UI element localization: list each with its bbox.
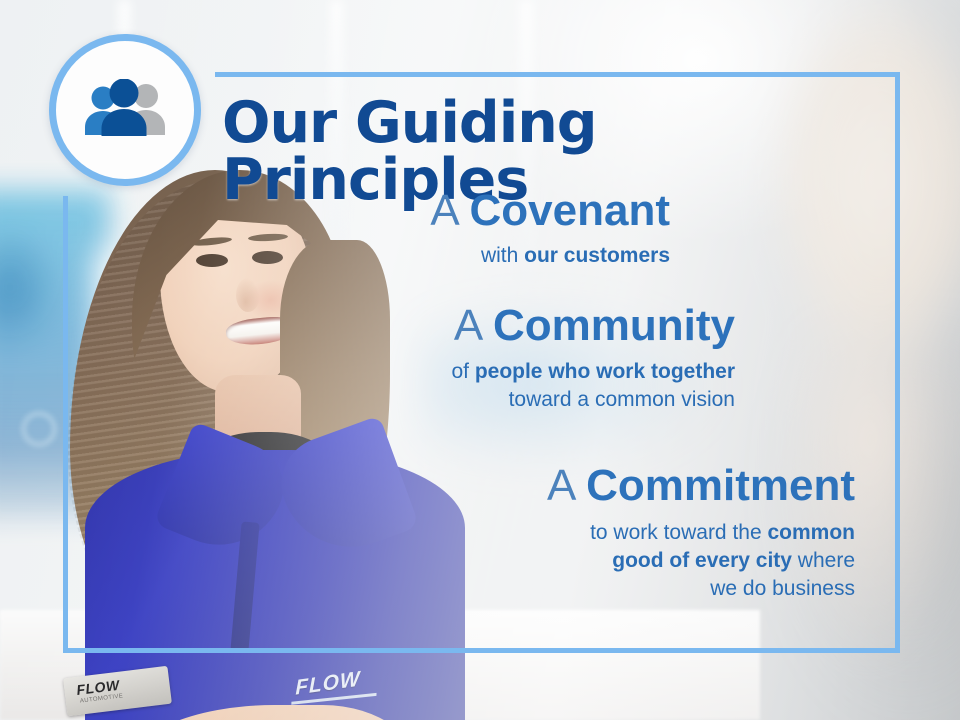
principle-article: A — [430, 186, 457, 235]
subtext-run: where — [792, 549, 855, 572]
subtext-emphasis: people who work together — [475, 360, 735, 383]
frame-border-right — [895, 72, 900, 653]
subtext-run: with — [481, 244, 524, 267]
principle-word: Commitment — [586, 461, 855, 510]
principle-word: Covenant — [470, 186, 670, 235]
subtext-run: toward a common vision — [509, 388, 735, 411]
frame-border-bottom — [63, 648, 900, 653]
subtext-line: we do business — [200, 575, 855, 603]
principle-subtext: of people who work togethertoward a comm… — [200, 358, 735, 413]
principle-commitment: A Commitment to work toward the commongo… — [200, 463, 855, 602]
principle-community: A Community of people who work togethert… — [200, 303, 735, 414]
principle-article: A — [547, 461, 574, 510]
principle-word: Community — [493, 301, 735, 350]
subtext-line: of people who work together — [200, 358, 735, 386]
subtext-emphasis: common — [767, 521, 855, 544]
principle-subtext: to work toward the commongood of every c… — [200, 519, 855, 602]
principle-heading: A Covenant — [200, 188, 670, 234]
principle-article: A — [454, 301, 481, 350]
guiding-principles-graphic: FLOW FLOW AUTOMOTIVE Our Guiding Princip… — [0, 0, 960, 720]
principle-subtext: with our customers — [200, 242, 670, 270]
people-group-icon-badge — [49, 34, 201, 186]
subtext-line: with our customers — [200, 242, 670, 270]
subtext-line: to work toward the common — [200, 519, 855, 547]
people-group-icon — [79, 79, 171, 141]
subtext-emphasis: our customers — [524, 244, 670, 267]
frame-border-left — [63, 196, 68, 653]
principle-heading: A Community — [200, 303, 735, 349]
subtext-line: good of every city where — [200, 547, 855, 575]
principle-covenant: A Covenant with our customers — [200, 188, 670, 270]
frame-border-top — [215, 72, 900, 77]
subtext-run: of — [451, 360, 474, 383]
subtext-emphasis: good of every city — [612, 549, 792, 572]
subtext-run: to work toward the — [590, 521, 767, 544]
subtext-line: toward a common vision — [200, 386, 735, 414]
subtext-run: we do business — [710, 577, 855, 600]
principle-heading: A Commitment — [200, 463, 855, 509]
